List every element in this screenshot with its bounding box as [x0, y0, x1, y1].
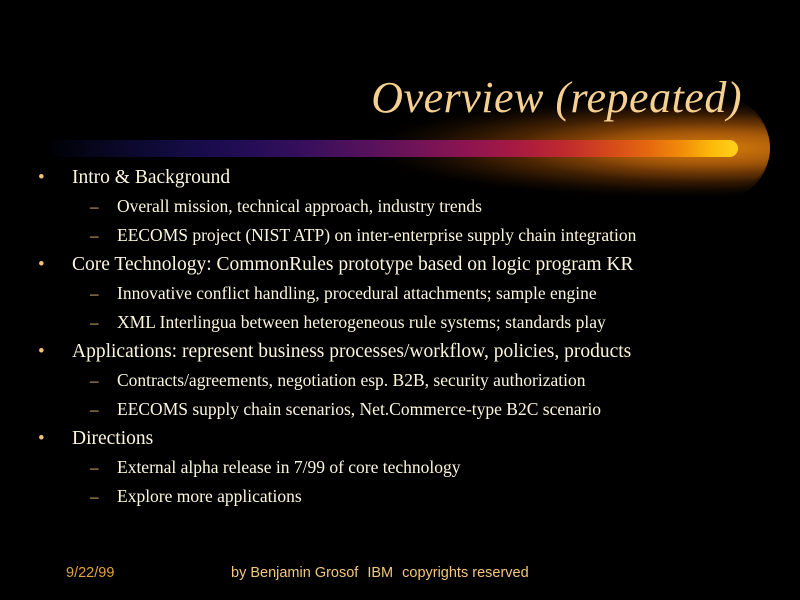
bullet-text: Explore more applications	[117, 486, 302, 507]
footer-company: IBM	[367, 565, 393, 581]
bullet-text: Intro & Background	[72, 167, 230, 189]
bullet-text: EECOMS project (NIST ATP) on inter-enter…	[117, 225, 636, 246]
footer-rights: copyrights reserved	[402, 565, 529, 581]
comet-gradient-bar	[48, 140, 738, 157]
bullet-item-level1: •Intro & Background	[0, 167, 800, 196]
footer-date: 9/22/99	[66, 565, 114, 581]
slide-footer: 9/22/99 by Benjamin GrosofIBMcopyrights …	[0, 563, 800, 587]
bullet-text: Applications: represent business process…	[72, 341, 631, 363]
bullet-text: Directions	[72, 428, 153, 450]
bullet-dot-icon: •	[38, 255, 72, 274]
bullet-item-level2: –EECOMS supply chain scenarios, Net.Comm…	[0, 399, 800, 428]
bullet-list: •Intro & Background–Overall mission, tec…	[0, 167, 800, 515]
bullet-text: Overall mission, technical approach, ind…	[117, 196, 482, 217]
bullet-dash-icon: –	[90, 459, 117, 476]
bullet-text: Contracts/agreements, negotiation esp. B…	[117, 370, 586, 391]
bullet-item-level1: •Directions	[0, 428, 800, 457]
bullet-item-level2: –Overall mission, technical approach, in…	[0, 196, 800, 225]
bullet-item-level2: –EECOMS project (NIST ATP) on inter-ente…	[0, 225, 800, 254]
bullet-item-level1: •Core Technology: CommonRules prototype …	[0, 254, 800, 283]
presentation-slide: Overview (repeated) •Intro & Background–…	[0, 0, 800, 600]
bullet-dash-icon: –	[90, 227, 117, 244]
bullet-dash-icon: –	[90, 285, 117, 302]
bullet-dot-icon: •	[38, 342, 72, 361]
bullet-dot-icon: •	[38, 168, 72, 187]
bullet-text: Core Technology: CommonRules prototype b…	[72, 254, 634, 276]
bullet-item-level2: –XML Interlingua between heterogeneous r…	[0, 312, 800, 341]
bullet-text: Innovative conflict handling, procedural…	[117, 283, 597, 304]
bullet-dash-icon: –	[90, 198, 117, 215]
bullet-item-level2: –Contracts/agreements, negotiation esp. …	[0, 370, 800, 399]
bullet-text: External alpha release in 7/99 of core t…	[117, 457, 461, 478]
bullet-dash-icon: –	[90, 401, 117, 418]
footer-author: by Benjamin Grosof	[231, 565, 358, 581]
bullet-item-level1: •Applications: represent business proces…	[0, 341, 800, 370]
bullet-dash-icon: –	[90, 314, 117, 331]
footer-credit: by Benjamin GrosofIBMcopyrights reserved	[231, 565, 529, 581]
bullet-item-level2: –Explore more applications	[0, 486, 800, 515]
bullet-dash-icon: –	[90, 372, 117, 389]
page-title: Overview (repeated)	[371, 72, 742, 124]
bullet-item-level2: –Innovative conflict handling, procedura…	[0, 283, 800, 312]
bullet-text: XML Interlingua between heterogeneous ru…	[117, 312, 606, 333]
bullet-item-level2: –External alpha release in 7/99 of core …	[0, 457, 800, 486]
bullet-text: EECOMS supply chain scenarios, Net.Comme…	[117, 399, 601, 420]
bullet-dot-icon: •	[38, 429, 72, 448]
bullet-dash-icon: –	[90, 488, 117, 505]
